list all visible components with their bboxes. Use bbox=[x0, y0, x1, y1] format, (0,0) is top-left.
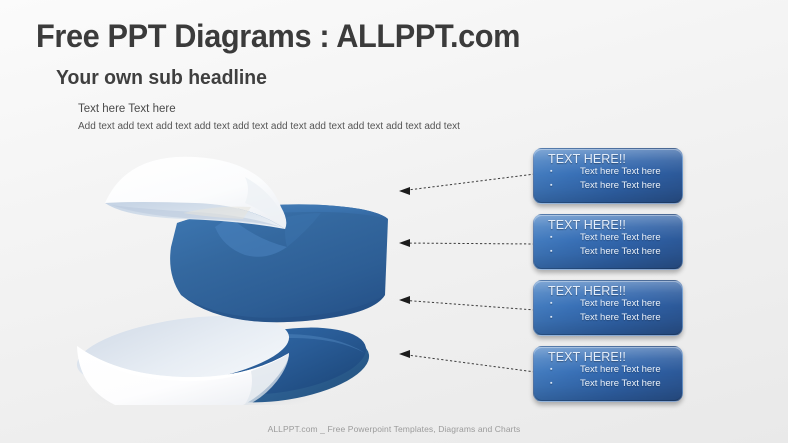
callout-title: TEXT HERE!! bbox=[548, 350, 626, 364]
callout-title: TEXT HERE!! bbox=[548, 218, 626, 232]
callout-bullet: Text here Text here bbox=[540, 179, 661, 193]
exploded-sphere-diagram bbox=[55, 155, 395, 405]
arrow-connector-4 bbox=[385, 344, 540, 378]
callout-title: TEXT HERE!! bbox=[548, 152, 626, 166]
callout-bullet: Text here Text here bbox=[540, 245, 661, 259]
callout-bullet: Text here Text here bbox=[540, 165, 661, 179]
page-title: Free PPT Diagrams : ALLPPT.com bbox=[36, 18, 520, 55]
callout-bullet: Text here Text here bbox=[540, 363, 661, 377]
presentation-slide: Free PPT Diagrams : ALLPPT.com Your own … bbox=[0, 0, 788, 443]
callout-bullet: Text here Text here bbox=[540, 297, 661, 311]
sub-headline: Your own sub headline bbox=[56, 67, 267, 90]
callout-bullet: Text here Text here bbox=[540, 377, 661, 391]
body-text-primary: Text here Text here bbox=[78, 103, 176, 115]
body-text-secondary: Add text add text add text add text add … bbox=[78, 121, 460, 132]
callout-box-1[interactable]: TEXT HERE!! Text here Text here Text her… bbox=[533, 148, 683, 204]
arrow-connector-2 bbox=[385, 228, 540, 262]
callout-bullet-list: Text here Text here Text here Text here bbox=[540, 165, 661, 193]
callout-box-2[interactable]: TEXT HERE!! Text here Text here Text her… bbox=[533, 214, 683, 270]
footer-attribution: ALLPPT.com _ Free Powerpoint Templates, … bbox=[0, 424, 788, 434]
callout-box-3[interactable]: TEXT HERE!! Text here Text here Text her… bbox=[533, 280, 683, 336]
callout-bullet-list: Text here Text here Text here Text here bbox=[540, 363, 661, 391]
callout-bullet: Text here Text here bbox=[540, 311, 661, 325]
callout-box-4[interactable]: TEXT HERE!! Text here Text here Text her… bbox=[533, 346, 683, 402]
callout-bullet-list: Text here Text here Text here Text here bbox=[540, 231, 661, 259]
arrow-connector-3 bbox=[385, 288, 540, 322]
diagram-layer-top-dome bbox=[105, 157, 286, 229]
callout-bullet-list: Text here Text here Text here Text here bbox=[540, 297, 661, 325]
callout-bullet: Text here Text here bbox=[540, 231, 661, 245]
arrow-connector-1 bbox=[385, 170, 540, 204]
callout-title: TEXT HERE!! bbox=[548, 284, 626, 298]
